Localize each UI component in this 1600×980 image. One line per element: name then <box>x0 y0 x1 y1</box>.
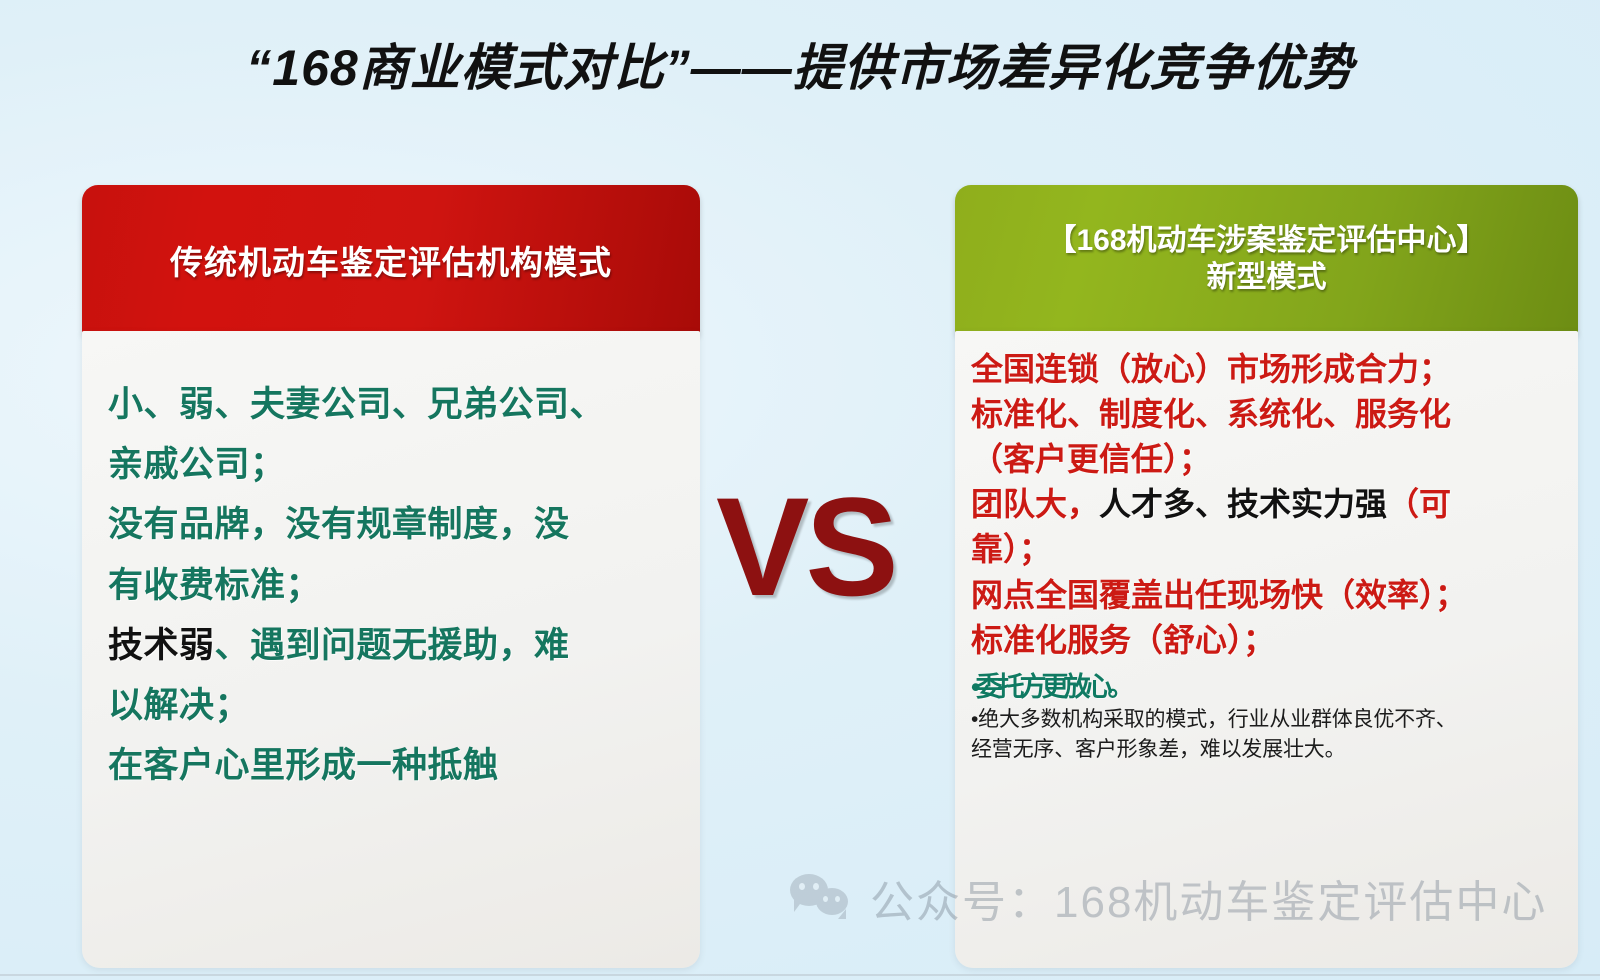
traditional-model-body: 小、弱、夫妻公司、兄弟公司、 亲戚公司； 没有品牌，没有规章制度，没 有收费标准… <box>82 331 700 968</box>
list-item: 在客户心里形成一种抵触 <box>108 736 674 796</box>
list-item: 有收费标准； <box>108 556 674 616</box>
list-item: （客户更信任）； <box>971 437 1564 482</box>
vs-divider-label: VS <box>716 477 895 617</box>
fine-print-line-1: •绝大多数机构采取的模式，行业从业群体良优不齐、 <box>971 706 1564 734</box>
new-model-text-list: 全国连锁（放心）市场形成合力； 标准化、制度化、系统化、服务化 （客户更信任）；… <box>971 347 1564 663</box>
list-item: 技术弱、遇到问题无援助，难 <box>108 616 674 676</box>
list-item: 网点全国覆盖出任现场快（效率）； <box>971 573 1564 618</box>
new-model-header-line1: 【168机动车涉案鉴定评估中心】 <box>1046 223 1486 260</box>
new-model-panel: 【168机动车涉案鉴定评估中心】 新型模式 全国连锁（放心）市场形成合力； 标准… <box>955 185 1578 968</box>
emphasis-text: 技术弱 <box>108 626 215 665</box>
list-item: 没有品牌，没有规章制度，没 <box>108 495 674 555</box>
new-model-header: 【168机动车涉案鉴定评估中心】 新型模式 <box>955 185 1578 335</box>
emphasis-text: 人才多、技术实力强 <box>1099 486 1387 522</box>
list-item: 全国连锁（放心）市场形成合力； <box>971 347 1564 392</box>
bottom-divider <box>0 974 1600 976</box>
list-item: 小、弱、夫妻公司、兄弟公司、 <box>108 375 674 435</box>
list-item: 标准化服务（舒心）； <box>971 618 1564 663</box>
list-item: 标准化、制度化、系统化、服务化 <box>971 392 1564 437</box>
list-item: 团队大，人才多、技术实力强（可 <box>971 482 1564 527</box>
traditional-model-text-list: 小、弱、夫妻公司、兄弟公司、 亲戚公司； 没有品牌，没有规章制度，没 有收费标准… <box>108 375 674 796</box>
list-item: 以解决； <box>108 676 674 736</box>
slide-canvas: “168商业模式对比”——提供市场差异化竞争优势 传统机动车鉴定评估机构模式 小… <box>0 0 1600 980</box>
list-item: 靠）； <box>971 527 1564 572</box>
traditional-model-header: 传统机动车鉴定评估机构模式 <box>82 185 700 335</box>
list-item: 亲戚公司； <box>108 435 674 495</box>
new-model-header-line2: 新型模式 <box>1207 260 1327 297</box>
green-note-text: •委托方更放心。 <box>971 665 1564 704</box>
traditional-model-panel: 传统机动车鉴定评估机构模式 小、弱、夫妻公司、兄弟公司、 亲戚公司； 没有品牌，… <box>82 185 700 968</box>
page-title: “168商业模式对比”——提供市场差异化竞争优势 <box>0 42 1600 95</box>
fine-print-line-2: 经营无序、客户形象差，难以发展壮大。 <box>971 736 1564 764</box>
wechat-icon <box>790 872 852 924</box>
new-model-body: 全国连锁（放心）市场形成合力； 标准化、制度化、系统化、服务化 （客户更信任）；… <box>955 331 1578 968</box>
